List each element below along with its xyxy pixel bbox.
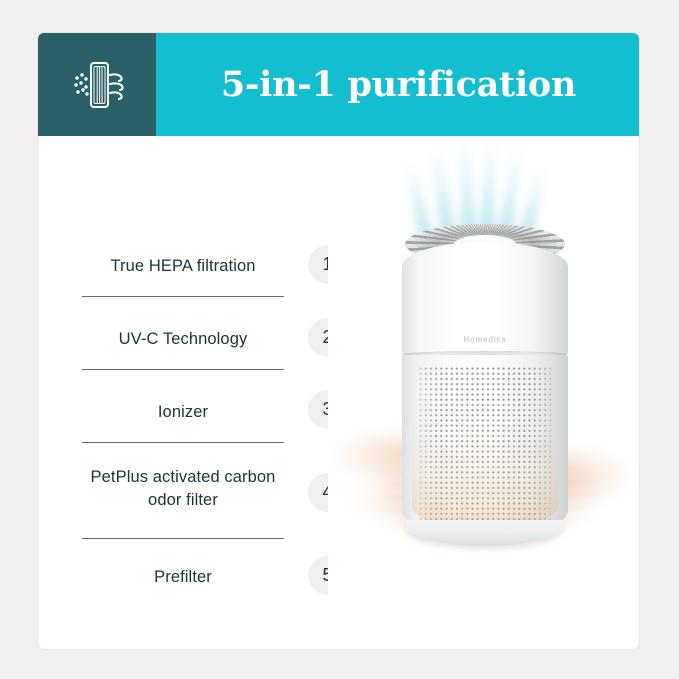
card-body: True HEPA filtration UV-C Technology Ion… (38, 136, 640, 650)
feature-divider-3 (82, 442, 284, 443)
purifier-upper-body: Homedics (402, 242, 568, 354)
product-photo: Homedics (328, 136, 640, 650)
feature-card: 5-in-1 purification True HEPA filtration… (37, 32, 640, 650)
header-title-box: 5-in-1 purification (156, 33, 640, 136)
feature-label-2: UV-C Technology (82, 328, 284, 351)
feature-divider-4 (82, 538, 284, 539)
feature-list: True HEPA filtration UV-C Technology Ion… (38, 136, 328, 650)
warm-light-overlay (412, 420, 558, 530)
brand-label: Homedics (402, 335, 568, 344)
feature-label-4: PetPlus activated carbon odor filter (82, 466, 284, 512)
feature-label-3: Ionizer (82, 401, 284, 424)
feature-label-5: Prefilter (82, 566, 284, 589)
header-icon-box (38, 33, 156, 136)
air-purifier-unit: Homedics (396, 224, 574, 554)
page-title: 5-in-1 purification (221, 67, 576, 102)
feature-label-1: True HEPA filtration (82, 255, 284, 278)
infographic-canvas: 5-in-1 purification True HEPA filtration… (0, 0, 679, 679)
air-filter-icon (69, 56, 125, 114)
feature-divider-2 (82, 369, 284, 370)
purifier-base (406, 520, 564, 546)
feature-divider-1 (82, 296, 284, 297)
card-header: 5-in-1 purification (38, 33, 640, 136)
